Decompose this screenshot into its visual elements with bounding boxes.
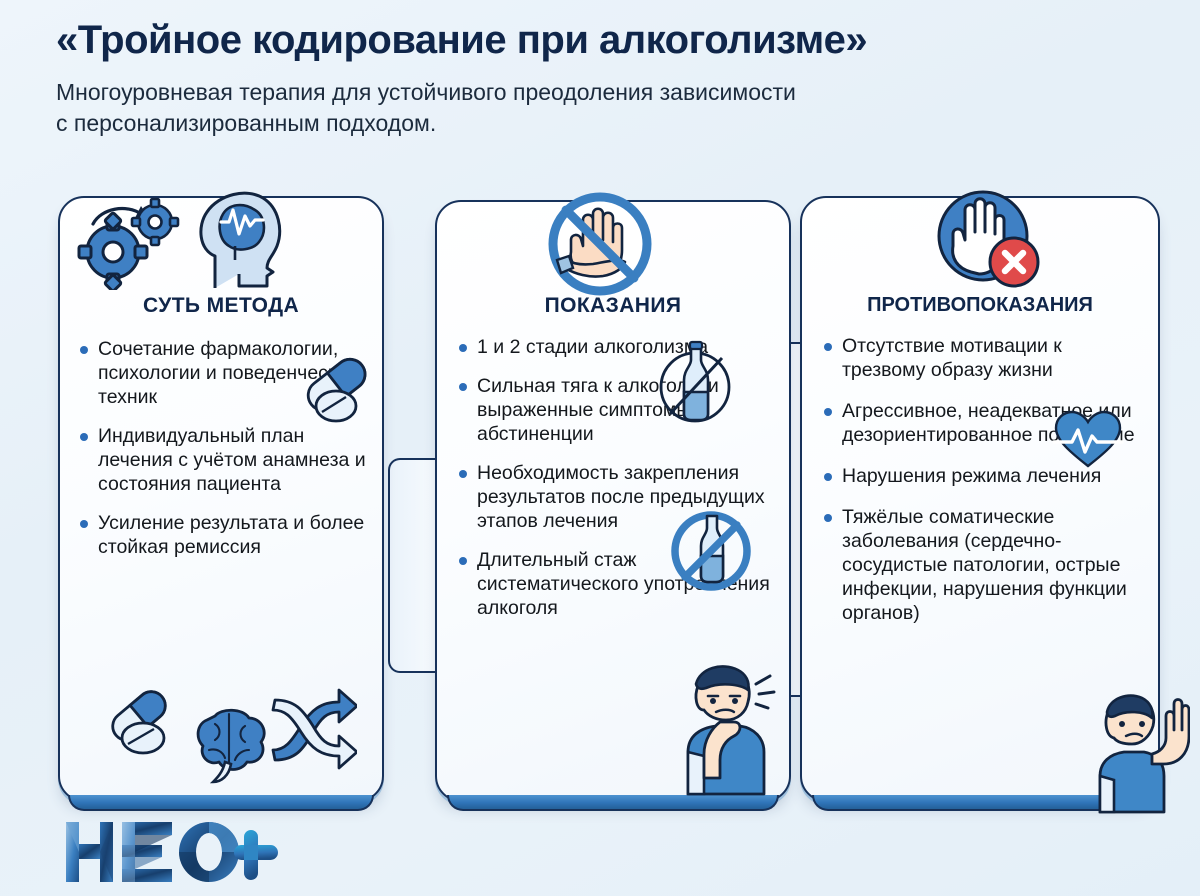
stop-hand-red-cross-icon	[931, 186, 1043, 299]
raised-hand-man-icon	[1086, 680, 1190, 821]
no-hand-stop-icon	[541, 188, 659, 305]
no-bottle-icon	[668, 508, 754, 599]
gears-head-brain-icon	[75, 190, 290, 295]
shuffle-arrows-icon	[273, 690, 357, 768]
capsule-pill-icon	[292, 352, 378, 443]
worried-man-icon	[660, 648, 780, 803]
capsule-pill-icon	[107, 686, 171, 753]
card1-bottom-icon-row	[95, 676, 357, 789]
connector-notch-card2	[388, 458, 440, 673]
list-item: Усиление результата и более стойкая реми…	[76, 512, 368, 560]
infographic-page: «Тройное кодирование при алкоголизме» Мн…	[0, 0, 1200, 896]
brain-icon	[198, 710, 264, 782]
card-heading-1: СУТЬ МЕТОДА	[60, 294, 382, 318]
no-bottle-icon	[652, 340, 738, 431]
neo-plus-logo[interactable]	[62, 818, 282, 891]
list-item: Отсутствие мотивации к трезвому образу ж…	[820, 335, 1144, 383]
bullet-list-3: Отсутствие мотивации к трезвому образу ж…	[820, 335, 1144, 626]
heartbeat-icon	[1052, 408, 1124, 477]
list-item: Тяжёлые соматические заболевания (сердеч…	[820, 506, 1144, 626]
